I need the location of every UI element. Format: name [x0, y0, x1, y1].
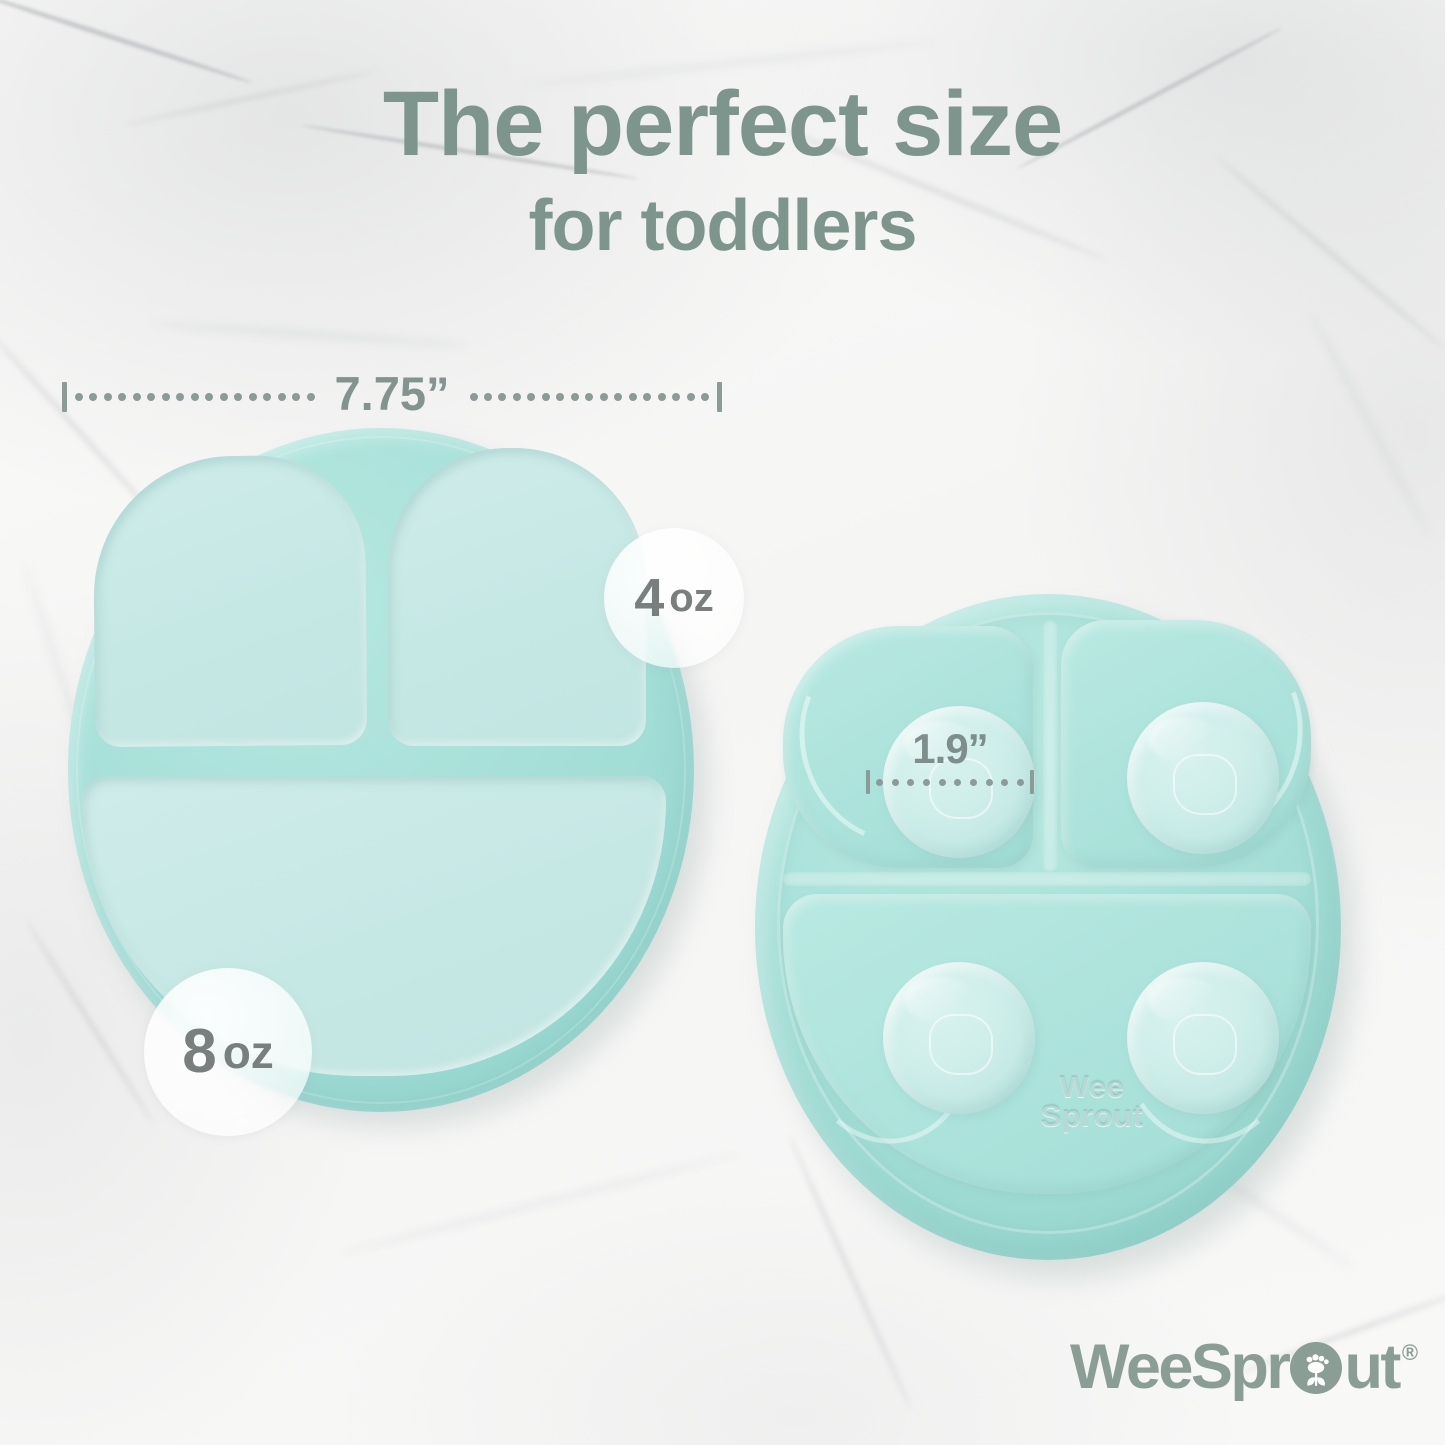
capacity-value: 4: [634, 571, 664, 625]
highlight: [904, 721, 977, 767]
brand-name-part-1: Wee: [1070, 1336, 1191, 1399]
underside-channel-horizontal: [783, 872, 1311, 886]
embossed-logo-line-2: Sprout: [1007, 1101, 1177, 1130]
page-title: The perfect size for toddlers: [0, 78, 1445, 262]
infographic-canvas: The perfect size for toddlers 7.75”: [0, 0, 1445, 1445]
highlight: [1148, 977, 1221, 1023]
capacity-value: 8: [182, 1021, 216, 1083]
brand-name-part-3: ut: [1344, 1336, 1398, 1399]
toddler-plate-underside-view: Wee Sprout: [755, 594, 1341, 1260]
upper-left-compartment: [93, 455, 368, 747]
suction-cup-top-right: [1127, 702, 1279, 854]
title-line-1: The perfect size: [0, 78, 1445, 170]
registered-trademark-symbol: ®: [1402, 1340, 1418, 1366]
underside-channel-vertical: [1043, 620, 1057, 872]
embossed-brand-logo: Wee Sprout: [1007, 1072, 1177, 1131]
title-line-2: for toddlers: [0, 190, 1445, 262]
capacity-unit: oz: [669, 578, 713, 618]
capacity-badge-8oz: 8 oz: [144, 968, 312, 1136]
highlight: [904, 977, 977, 1023]
brand-logo: Wee Spr ut ®: [1070, 1336, 1418, 1399]
suction-cup-top-left: [883, 706, 1035, 858]
highlight: [1148, 717, 1221, 763]
sprout-seedling-icon: [1290, 1342, 1342, 1394]
brand-wordmark: Wee Spr ut: [1070, 1336, 1399, 1399]
capacity-unit: oz: [223, 1029, 274, 1075]
brand-name-part-2: Spr: [1191, 1336, 1289, 1399]
capacity-badge-4oz: 4 oz: [604, 528, 744, 668]
